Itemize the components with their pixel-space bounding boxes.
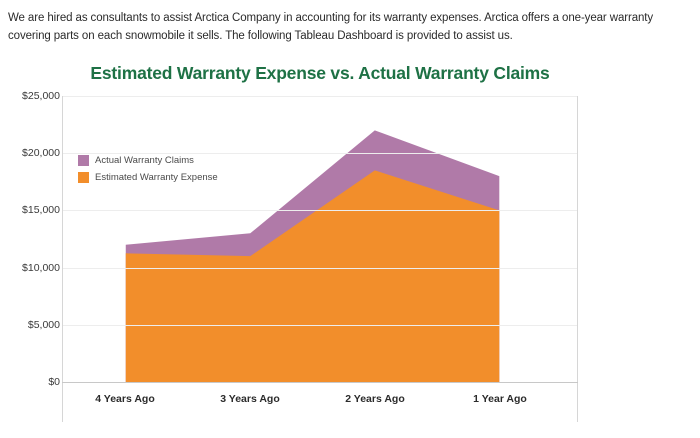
- intro-paragraph: We are hired as consultants to assist Ar…: [8, 9, 692, 45]
- legend-swatch-icon: [78, 172, 89, 183]
- x-axis-tick-label: 2 Years Ago: [345, 393, 405, 405]
- chart-title: Estimated Warranty Expense vs. Actual Wa…: [62, 63, 578, 84]
- tableau-dashboard: Estimated Warranty Expense vs. Actual Wa…: [0, 56, 700, 438]
- gridline: [63, 96, 577, 97]
- legend-item[interactable]: Estimated Warranty Expense: [78, 170, 218, 185]
- legend-swatch-icon: [78, 155, 89, 166]
- y-axis-tick-label: $25,000: [4, 90, 60, 102]
- y-axis-tick-label: $20,000: [4, 147, 60, 159]
- gridline: [63, 268, 577, 269]
- chart-legend: Actual Warranty ClaimsEstimated Warranty…: [78, 153, 218, 187]
- y-axis-tick-label: $10,000: [4, 262, 60, 274]
- area-chart-svg: [63, 96, 577, 382]
- y-axis: $25,000$20,000$15,000$10,000$5,000$0: [0, 96, 60, 382]
- y-axis-tick-label: $0: [4, 376, 60, 388]
- gridline: [63, 325, 577, 326]
- y-axis-tick-label: $15,000: [4, 204, 60, 216]
- x-axis-tick-label: 1 Year Ago: [473, 393, 527, 405]
- legend-item-label: Actual Warranty Claims: [95, 155, 194, 166]
- legend-item[interactable]: Actual Warranty Claims: [78, 153, 218, 168]
- gridline: [63, 210, 577, 211]
- x-axis-tick-label: 3 Years Ago: [220, 393, 280, 405]
- plot-area: [62, 96, 578, 422]
- x-axis: 4 Years Ago3 Years Ago2 Years Ago1 Year …: [62, 382, 578, 422]
- y-axis-tick-label: $5,000: [4, 319, 60, 331]
- x-axis-tick-label: 4 Years Ago: [95, 393, 155, 405]
- plot-canvas: [63, 96, 577, 382]
- legend-item-label: Estimated Warranty Expense: [95, 172, 218, 183]
